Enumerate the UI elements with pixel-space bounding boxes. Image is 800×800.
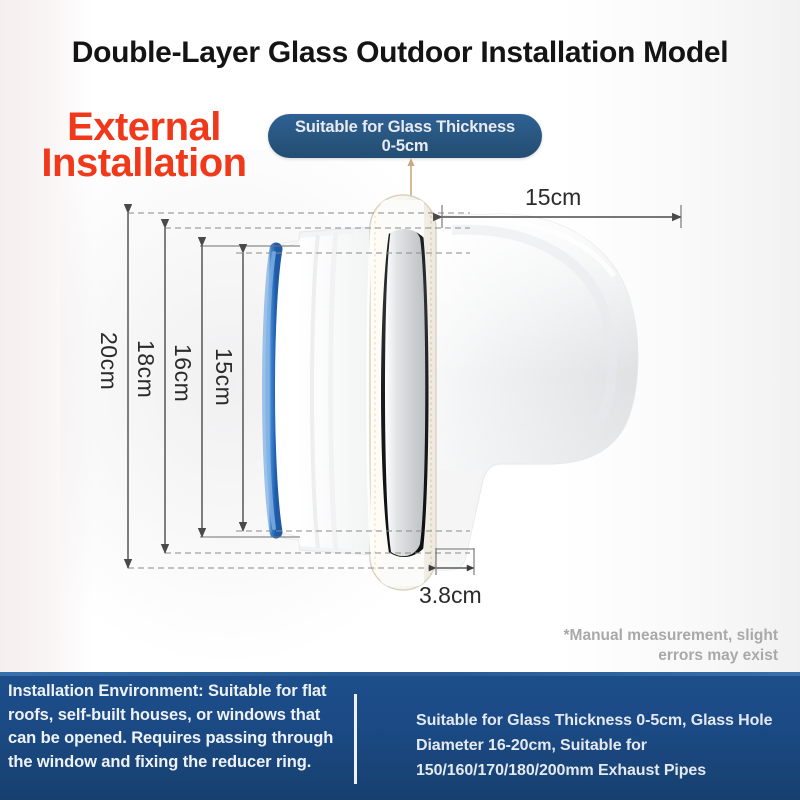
installation-environment-text: Installation Environment: Suitable for f… — [8, 680, 338, 774]
dim-label-15cm-vertical: 15cm — [210, 348, 237, 406]
vent-hood — [428, 214, 638, 570]
measurement-disclaimer: *Manual measurement, slight errors may e… — [478, 626, 778, 666]
dim-label-20cm: 20cm — [95, 332, 122, 390]
disclaimer-line-1: *Manual measurement, slight — [564, 627, 778, 644]
faceplate-capsule — [368, 195, 437, 590]
dim-label-3-8cm: 3.8cm — [419, 582, 482, 609]
dim-label-15cm-horizontal: 15cm — [525, 184, 581, 211]
disclaimer-line-2: errors may exist — [658, 647, 778, 664]
dim-label-18cm: 18cm — [132, 340, 159, 398]
banner-divider — [354, 694, 357, 784]
infographic-canvas: Double-Layer Glass Outdoor Installation … — [0, 0, 800, 800]
specification-text: Suitable for Glass Thickness 0-5cm, Glas… — [416, 708, 786, 783]
dim-label-16cm: 16cm — [169, 344, 196, 402]
bottom-info-banner: Installation Environment: Suitable for f… — [0, 672, 800, 800]
